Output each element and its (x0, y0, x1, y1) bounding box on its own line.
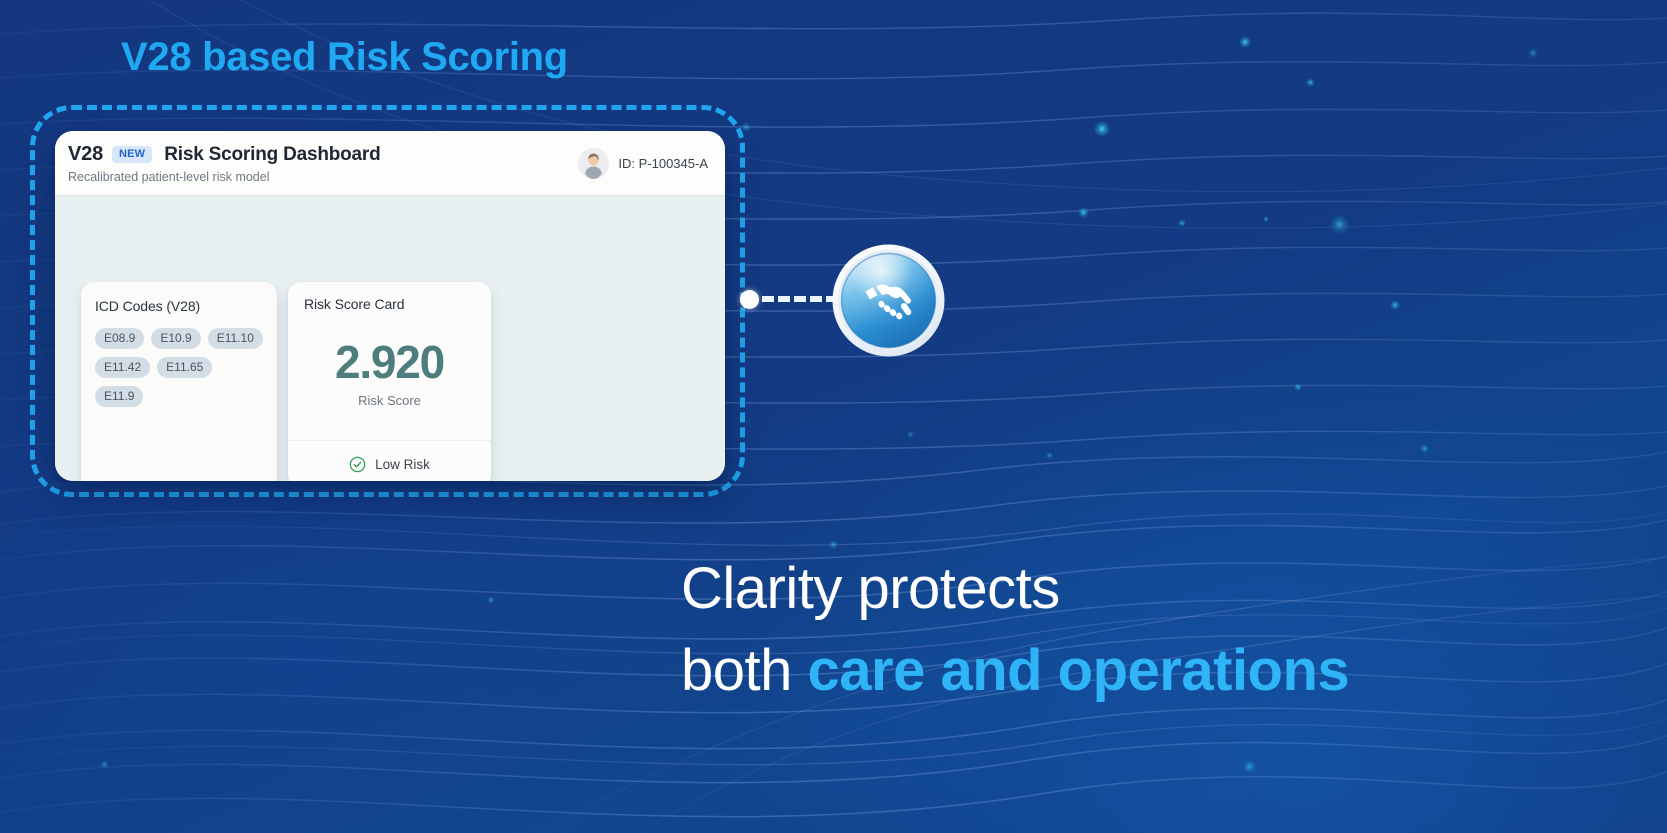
icd-codes-panel: ICD Codes (V28) E08.9 E10.9 E11.10 E11.4… (81, 282, 277, 481)
patient-identity: ID: P-100345-A (578, 148, 708, 179)
handshake-badge (831, 243, 946, 358)
risk-scoring-dashboard-card: V28 NEW Risk Scoring Dashboard Recalibra… (55, 131, 725, 481)
icd-code-chip[interactable]: E11.65 (157, 357, 212, 378)
risk-status-row: Low Risk (288, 440, 491, 481)
card-header: V28 NEW Risk Scoring Dashboard Recalibra… (55, 131, 725, 195)
headline-line-2-prefix: both (681, 638, 808, 703)
icd-code-chip[interactable]: E08.9 (95, 328, 144, 349)
dashed-connector-line-icon (762, 296, 838, 302)
dashboard-title: Risk Scoring Dashboard (164, 144, 380, 166)
patient-id-label: ID: P-100345-A (618, 156, 708, 171)
check-circle-icon (349, 456, 366, 473)
risk-status-label: Low Risk (375, 457, 430, 472)
icd-code-chip[interactable]: E11.9 (95, 386, 143, 407)
headline-line-2-accent: care and operations (808, 638, 1350, 703)
icd-panel-title: ICD Codes (V28) (95, 298, 263, 314)
new-badge: NEW (112, 146, 152, 163)
version-label: V28 (68, 143, 103, 166)
icd-code-chip[interactable]: E10.9 (151, 328, 200, 349)
risk-score-display: 2.920 Risk Score (288, 312, 491, 440)
page-title: V28 based Risk Scoring (121, 35, 568, 80)
connector-dot-icon (740, 290, 759, 309)
headline-line-1: Clarity protects (681, 548, 1581, 630)
headline-line-2: both care and operations (681, 630, 1581, 712)
icd-code-chip[interactable]: E11.10 (208, 328, 263, 349)
risk-score-value: 2.920 (335, 339, 444, 385)
icd-code-chip[interactable]: E11.42 (95, 357, 150, 378)
risk-score-card: Risk Score Card 2.920 Risk Score Low Ris… (288, 282, 491, 481)
bottom-headline: Clarity protects both care and operation… (681, 548, 1581, 713)
icd-code-chip-list: E08.9 E10.9 E11.10 E11.42 E11.65 E11.9 (95, 328, 263, 407)
risk-card-title: Risk Score Card (288, 282, 491, 312)
card-body: ICD Codes (V28) E08.9 E10.9 E11.10 E11.4… (55, 195, 725, 481)
risk-score-caption: Risk Score (358, 393, 421, 408)
promo-banner: V28 based Risk Scoring V28 NEW Risk Scor… (0, 0, 1667, 833)
user-avatar-icon (578, 148, 609, 179)
